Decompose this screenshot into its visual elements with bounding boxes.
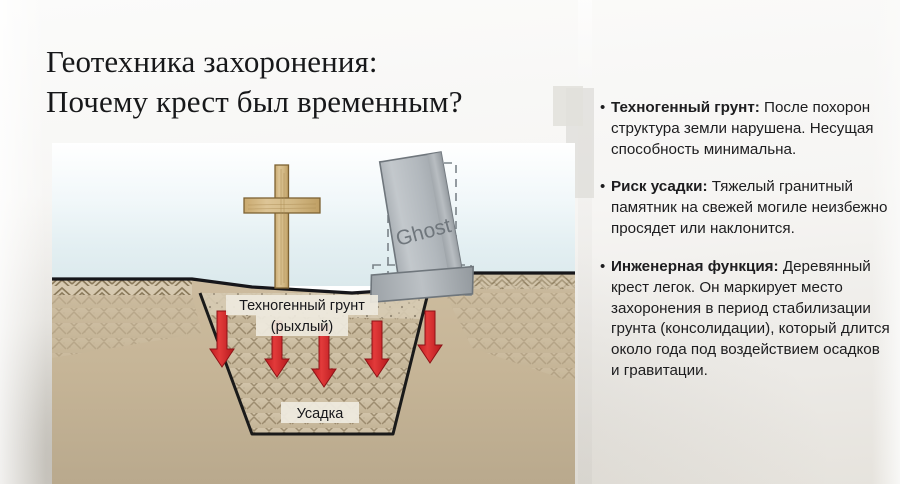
- background-band-left: [0, 0, 46, 484]
- bullet-lead-1: Техногенный грунт:: [611, 99, 760, 116]
- cross-vertical-beam: [275, 165, 289, 288]
- bullet-body-3: Деревянный крест легок. Он маркирует мес…: [611, 258, 890, 379]
- bullet-lead-2: Риск усадки:: [611, 178, 708, 195]
- soil-label-line-1: Техногенный грунт: [239, 298, 365, 314]
- bullet-marker: •: [600, 257, 611, 382]
- subsidence-label: Усадка: [281, 402, 359, 423]
- bullet-text-3: Инженерная функция: Деревянный крест лег…: [611, 257, 892, 382]
- bullet-list: • Техногенный грунт: После похорон струк…: [600, 98, 892, 382]
- title-line-2: Почему крест был временным?: [46, 82, 586, 122]
- bullet-marker: •: [600, 98, 611, 160]
- soil-label-line-2: (рыхлый): [271, 319, 333, 335]
- bullet-marker: •: [600, 177, 611, 239]
- bullet-lead-3: Инженерная функция:: [611, 258, 779, 275]
- slide-canvas: Геотехника захоронения: Почему крест был…: [0, 0, 900, 484]
- bullet-item-3: • Инженерная функция: Деревянный крест л…: [600, 257, 892, 382]
- cross-horizontal-beam: [244, 198, 320, 213]
- subsidence-label-text: Усадка: [297, 406, 345, 422]
- page-title: Геотехника захоронения: Почему крест был…: [46, 42, 586, 123]
- bullet-text-1: Техногенный грунт: После похорон структу…: [611, 98, 892, 160]
- bullet-text-2: Риск усадки: Тяжелый гранитный памятник …: [611, 177, 892, 239]
- sky-background: [52, 143, 575, 286]
- topsoil-band-left: [52, 279, 192, 295]
- title-line-1: Геотехника захоронения:: [46, 42, 586, 82]
- bullet-item-1: • Техногенный грунт: После похорон струк…: [600, 98, 892, 160]
- burial-cross-section-diagram: Ghost: [52, 143, 575, 484]
- bullet-item-2: • Риск усадки: Тяжелый гранитный памятни…: [600, 177, 892, 239]
